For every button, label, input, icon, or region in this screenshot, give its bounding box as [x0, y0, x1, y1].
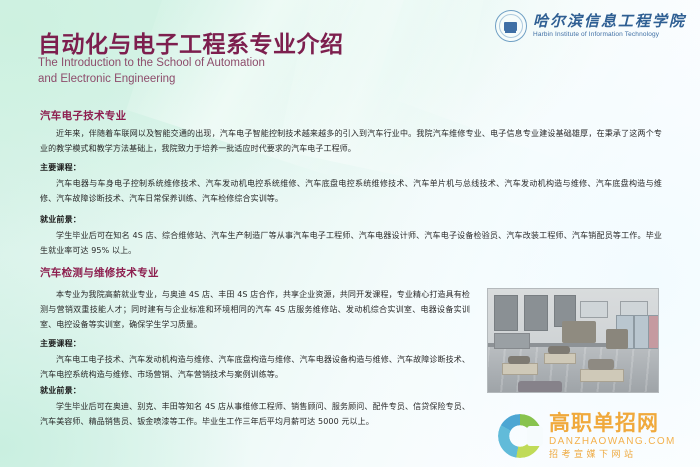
university-logo-text: 哈尔滨信息工程学院 Harbin Institute of Informatio…: [533, 14, 686, 39]
employment-paragraph: 学生毕业后可在知名 4S 店、综合维修站、汽车生产制造厂等从事汽车电子工程师、汽…: [40, 228, 662, 258]
employment-paragraph: 学生毕业后可在奥迪、别克、丰田等知名 4S 店从事维修工程师、销售顾问、服务顾问…: [40, 399, 470, 429]
photo-engine-part: [508, 356, 530, 364]
photo-radiator: [494, 333, 530, 349]
courses-label: 主要课程：: [40, 162, 81, 173]
section-title-automotive-electronics: 汽车电子技术专业: [40, 108, 126, 123]
courses-label: 主要课程：: [40, 338, 81, 349]
watermark-domain: DANZHAOWANG.COM: [549, 437, 676, 447]
photo-window: [524, 295, 548, 331]
watermark-tagline: 招考宣媒下网站: [549, 450, 676, 459]
page-title-en: The Introduction to the School of Automa…: [38, 55, 338, 87]
courses-paragraph: 汽车电工电子技术、汽车发动机构造与维修、汽车底盘构造与维修、汽车电器设备构造与维…: [40, 352, 470, 382]
logo-notch: [527, 426, 543, 446]
watermark-text: 高职单招网 DANZHAOWANG.COM 招考宣媒下网站: [549, 413, 676, 459]
university-logo: 哈尔滨信息工程学院 Harbin Institute of Informatio…: [495, 10, 686, 42]
watermark-name-cn: 高职单招网: [549, 413, 676, 434]
courses-paragraph: 汽车电器与车身电子控制系统维修技术、汽车发动机电控系统维修、汽车底盘电控系统维修…: [40, 176, 662, 206]
section-intro-paragraph: 本专业为我院高薪就业专业，与奥迪 4S 店、丰田 4S 店合作，共享企业资源，共…: [40, 287, 470, 332]
photo-engine-rig: [562, 321, 596, 343]
section-intro-paragraph: 近年来，伴随着车联网以及智能交通的出现，汽车电子智能控制技术越来越多的引入到汽车…: [40, 126, 662, 156]
seal-building-glyph: [504, 22, 517, 31]
photo-window: [494, 295, 518, 331]
slide-root: 自动化与电子工程系专业介绍 The Introduction to the Sc…: [0, 0, 700, 467]
photo-workbench: [544, 353, 576, 364]
training-lab-photo: [487, 288, 659, 393]
danzhaowang-logo-icon: [498, 414, 542, 458]
photo-workbench: [580, 369, 624, 382]
photo-engine-rig: [606, 329, 628, 349]
photo-engine-part: [588, 359, 614, 370]
employment-label: 就业前景：: [40, 214, 81, 225]
university-seal-icon: [495, 10, 527, 42]
photo-equipment-cabinet: [648, 315, 659, 349]
page-title-cn: 自动化与电子工程系专业介绍: [38, 25, 344, 59]
photo-engine-part: [518, 381, 562, 393]
site-watermark: 高职单招网 DANZHAOWANG.COM 招考宣媒下网站: [498, 408, 694, 464]
university-name-cn: 哈尔滨信息工程学院: [533, 14, 686, 29]
slide-header: 自动化与电子工程系专业介绍 The Introduction to the Sc…: [0, 0, 700, 100]
photo-engine-part: [548, 346, 570, 354]
employment-label: 就业前景：: [40, 385, 81, 396]
photo-workbench: [502, 363, 538, 375]
photo-wall-board: [580, 301, 608, 318]
section-title-automotive-maintenance: 汽车检测与维修技术专业: [40, 265, 159, 280]
university-name-en: Harbin Institute of Information Technolo…: [533, 32, 686, 39]
